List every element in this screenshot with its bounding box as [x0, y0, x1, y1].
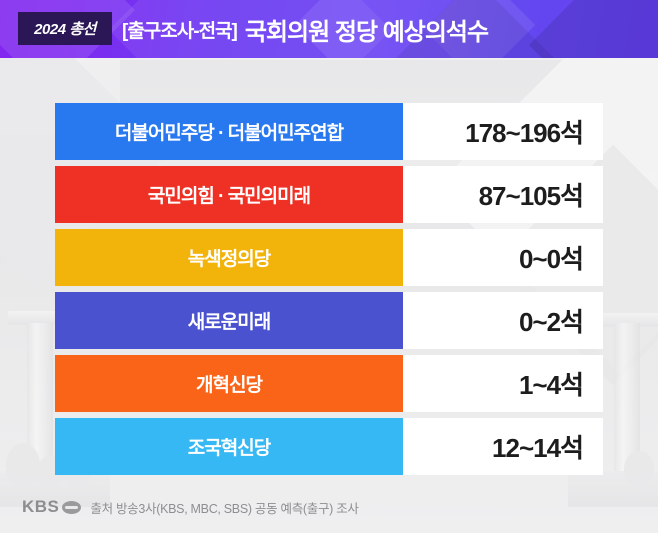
seat-projection-table: 더불어민주당 · 더불어민주연합 178~196석 국민의힘 · 국민의미래 8… [55, 103, 603, 475]
table-row: 더불어민주당 · 더불어민주연합 178~196석 [55, 103, 603, 160]
kbs-oval-icon [62, 501, 81, 514]
table-row: 개혁신당 1~4석 [55, 355, 603, 412]
seat-count-cell: 0~0석 [403, 229, 603, 286]
header-bar: 2024 총선 [출구조사-전국] 국회의원 정당 예상의석수 [0, 0, 658, 58]
kbs-wordmark: KBS [22, 497, 59, 517]
kbs-logo: KBS [22, 497, 81, 517]
footer: KBS 출처 방송3사(KBS, MBC, SBS) 공동 예측(출구) 조사 [22, 497, 359, 517]
poll-scope-label: [출구조사-전국] [122, 16, 237, 43]
election-logo-badge: 2024 총선 [18, 12, 112, 45]
table-row: 국민의힘 · 국민의미래 87~105석 [55, 166, 603, 223]
party-name-cell: 녹색정의당 [55, 229, 403, 286]
election-logo-label: 2024 총선 [34, 18, 96, 39]
party-name-cell: 국민의힘 · 국민의미래 [55, 166, 403, 223]
party-name-cell: 조국혁신당 [55, 418, 403, 475]
seat-count-cell: 12~14석 [403, 418, 603, 475]
page-title-text: 국회의원 정당 예상의석수 [245, 12, 488, 47]
header-facet [529, 0, 658, 58]
seat-count-cell: 0~2석 [403, 292, 603, 349]
page-title: [출구조사-전국] 국회의원 정당 예상의석수 [122, 0, 488, 58]
table-row: 녹색정의당 0~0석 [55, 229, 603, 286]
party-name-cell: 더불어민주당 · 더불어민주연합 [55, 103, 403, 160]
seat-count-cell: 178~196석 [403, 103, 603, 160]
exit-poll-graphic: 2024 총선 [출구조사-전국] 국회의원 정당 예상의석수 더불어민주당 ·… [0, 0, 658, 533]
party-name-cell: 개혁신당 [55, 355, 403, 412]
source-note: 출처 방송3사(KBS, MBC, SBS) 공동 예측(출구) 조사 [90, 498, 358, 517]
table-row: 조국혁신당 12~14석 [55, 418, 603, 475]
seat-count-cell: 87~105석 [403, 166, 603, 223]
party-name-cell: 새로운미래 [55, 292, 403, 349]
seat-count-cell: 1~4석 [403, 355, 603, 412]
table-row: 새로운미래 0~2석 [55, 292, 603, 349]
